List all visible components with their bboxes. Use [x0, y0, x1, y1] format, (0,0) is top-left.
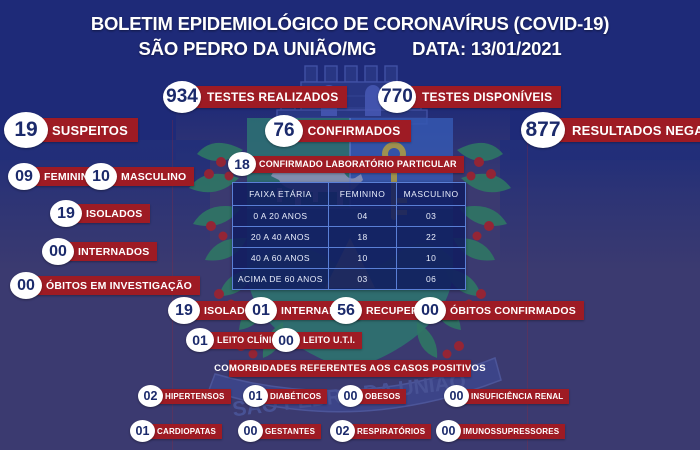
stat-value: 09 [8, 163, 40, 190]
cell-feminino: 10 [328, 248, 396, 269]
bulletin-header: BOLETIM EPIDEMIOLÓGICO DE CORONAVÍRUS (C… [0, 12, 700, 62]
stat-value: 770 [378, 81, 416, 113]
stat-label: INTERNADOS [65, 242, 157, 261]
stat-suspeitos: 19 SUSPEITOS [4, 112, 138, 148]
cell-faixa: ACIMA DE 60 ANOS [233, 269, 329, 290]
stat-value: 00 [272, 328, 300, 352]
stat-obitos-em-investigacao: 00 ÓBITOS EM INVESTIGAÇÃO [10, 272, 200, 299]
stat-value: 19 [50, 200, 82, 227]
table-row: 20 A 40 ANOS 18 22 [233, 227, 466, 248]
stat-label: DIABÉTICOS [259, 389, 327, 404]
stat-cardiopatas: 01 CARDIOPATAS [130, 420, 222, 442]
stat-label: INSUFICIÊNCIA RENAL [460, 389, 569, 404]
table-header-row: FAIXA ETÁRIA FEMININO MASCULINO [233, 183, 466, 206]
stat-value: 00 [414, 297, 446, 324]
stat-value: 00 [238, 420, 263, 442]
col-feminino: FEMININO [328, 183, 396, 206]
stat-value: 01 [130, 420, 155, 442]
cell-faixa: 0 A 20 ANOS [233, 206, 329, 227]
col-masculino: MASCULINO [397, 183, 466, 206]
cell-feminino: 18 [328, 227, 396, 248]
stat-value: 10 [85, 163, 117, 190]
table-row: 0 A 20 ANOS 04 03 [233, 206, 466, 227]
stat-label: ISOLADOS [73, 204, 150, 223]
stat-label: ÓBITOS CONFIRMADOS [437, 301, 584, 320]
stat-diabeticos: 01 DIABÉTICOS [243, 385, 327, 407]
cell-faixa: 40 A 60 ANOS [233, 248, 329, 269]
stat-label: TESTES DISPONÍVEIS [407, 86, 561, 108]
stat-respiratorios: 02 RESPIRATÓRIOS [330, 420, 431, 442]
cell-faixa: 20 A 40 ANOS [233, 227, 329, 248]
stat-imunossupressores: 00 IMUNOSSUPRESSORES [436, 420, 565, 442]
stat-confirmado-laboratorio-particular: 18 CONFIRMADO LABORATÓRIO PARTICULAR [228, 152, 464, 176]
stat-value: 01 [186, 328, 214, 352]
stat-value: 01 [245, 297, 277, 324]
stat-resultados-negativos: 877 RESULTADOS NEGATIVOS [521, 112, 700, 148]
cell-masculino: 06 [397, 269, 466, 290]
stat-value: 00 [444, 385, 469, 407]
cell-masculino: 10 [397, 248, 466, 269]
stat-testes-realizados: 934 TESTES REALIZADOS [163, 81, 347, 113]
stat-value: 76 [265, 115, 303, 147]
stat-testes-disponiveis: 770 TESTES DISPONÍVEIS [378, 81, 561, 113]
cell-masculino: 03 [397, 206, 466, 227]
stat-label: MASCULINO [108, 167, 194, 186]
stat-value: 18 [228, 152, 256, 176]
stat-obesos: 00 OBESOS [338, 385, 406, 407]
background-gradient-right [500, 140, 700, 270]
table-row: ACIMA DE 60 ANOS 03 06 [233, 269, 466, 290]
stat-value: 00 [42, 238, 74, 265]
stat-leito-uti: 00 LEITO U.T.I. [272, 328, 362, 352]
stat-label: RESULTADOS NEGATIVOS [556, 118, 700, 142]
stat-label: GESTANTES [254, 424, 321, 439]
page-title: BOLETIM EPIDEMIOLÓGICO DE CORONAVÍRUS (C… [0, 12, 700, 36]
stat-label: IMUNOSSUPRESSORES [452, 424, 565, 439]
stat-label: SUSPEITOS [39, 118, 138, 142]
stat-value: 00 [436, 420, 461, 442]
stat-label: CONFIRMADO LABORATÓRIO PARTICULAR [247, 156, 464, 173]
cell-feminino: 03 [328, 269, 396, 290]
cell-masculino: 22 [397, 227, 466, 248]
stat-hipertensos: 02 HIPERTENSOS [138, 385, 231, 407]
stat-value: 02 [138, 385, 163, 407]
stat-value: 877 [521, 112, 565, 148]
stat-value: 56 [330, 297, 362, 324]
city-label: SÃO PEDRO DA UNIÃO/MG [139, 38, 377, 59]
stat-suspeitos-isolados: 19 ISOLADOS [50, 200, 150, 227]
stat-label: CONFIRMADOS [294, 120, 411, 142]
stat-label: HIPERTENSOS [154, 389, 231, 404]
stat-suspeitos-internados: 00 INTERNADOS [42, 238, 157, 265]
stat-suspeitos-masculino: 10 MASCULINO [85, 163, 194, 190]
stat-value: 02 [330, 420, 355, 442]
stat-insuficiencia-renal: 00 INSUFICIÊNCIA RENAL [444, 385, 569, 407]
age-range-table: FAIXA ETÁRIA FEMININO MASCULINO 0 A 20 A… [232, 182, 466, 290]
stat-value: 00 [10, 272, 42, 299]
stat-value: 19 [168, 297, 200, 324]
page-subtitle: SÃO PEDRO DA UNIÃO/MG DATA: 13/01/2021 [0, 36, 700, 62]
stat-obitos-confirmados: 00 ÓBITOS CONFIRMADOS [414, 297, 584, 324]
stat-label: TESTES REALIZADOS [192, 86, 347, 108]
stat-confirmados: 76 CONFIRMADOS [265, 115, 411, 147]
stat-gestantes: 00 GESTANTES [238, 420, 321, 442]
comorbidities-banner: COMORBIDADES REFERENTES AOS CASOS POSITI… [229, 360, 471, 377]
stat-value: 934 [163, 81, 201, 113]
stat-value: 01 [243, 385, 268, 407]
date-label: DATA: 13/01/2021 [412, 38, 561, 59]
table-row: 40 A 60 ANOS 10 10 [233, 248, 466, 269]
bulletin-infographic: SÃO PEDRO DA UNIÃO M.G. BOLETIM EPIDEMIO… [0, 0, 700, 450]
cell-feminino: 04 [328, 206, 396, 227]
stat-label: LEITO U.T.I. [291, 332, 362, 349]
stat-value: 19 [4, 112, 48, 148]
stat-value: 00 [338, 385, 363, 407]
stat-label: CARDIOPATAS [146, 424, 222, 439]
stat-label: ÓBITOS EM INVESTIGAÇÃO [33, 276, 200, 295]
stat-label: RESPIRATÓRIOS [346, 424, 431, 439]
col-faixa-etaria: FAIXA ETÁRIA [233, 183, 329, 206]
